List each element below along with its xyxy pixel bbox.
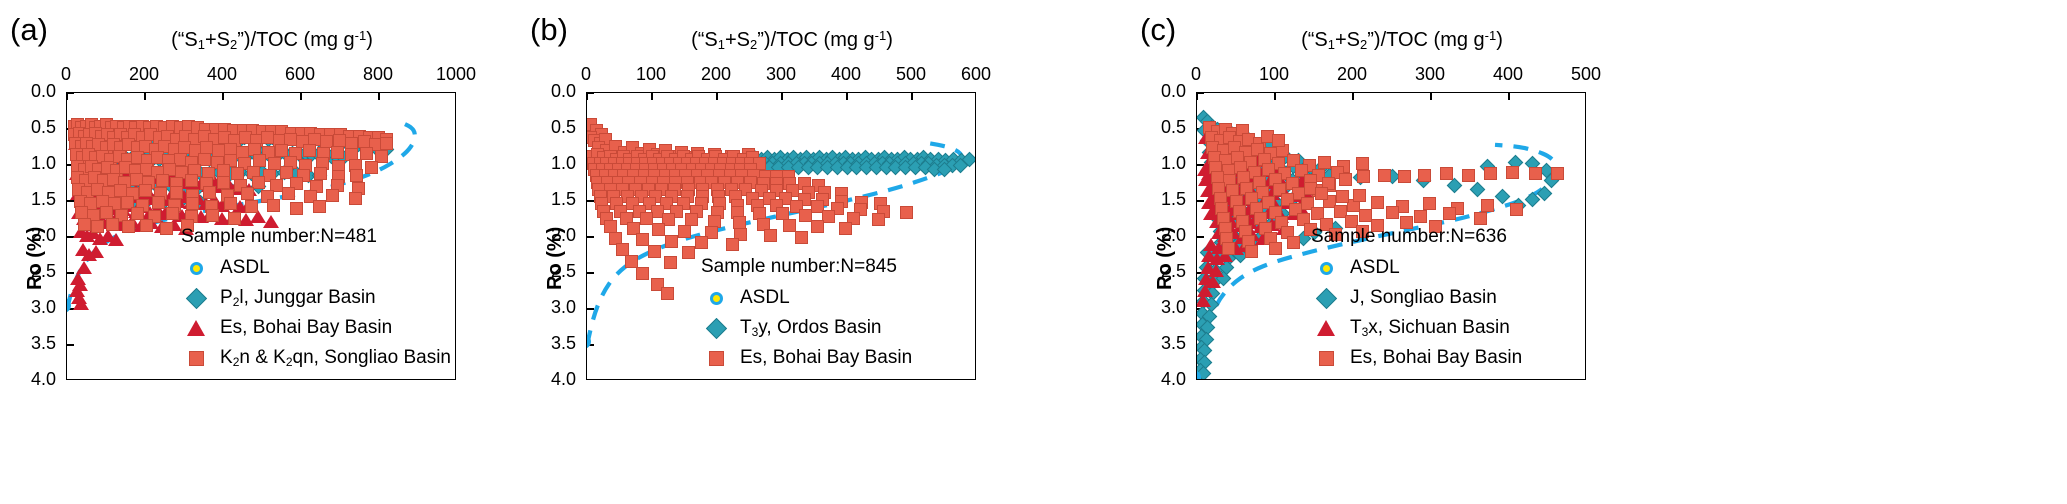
data-point-square: [1398, 170, 1411, 183]
data-point-square: [241, 187, 254, 200]
data-point-square: [661, 287, 674, 300]
data-point-square: [331, 146, 344, 159]
square-marker-icon: [701, 351, 731, 366]
data-point-square: [1245, 245, 1258, 258]
y-axis-tick-label: 4.0: [1134, 369, 1186, 390]
data-point-square: [290, 202, 303, 215]
data-point-square: [314, 167, 327, 180]
data-point-square: [1269, 242, 1282, 255]
panel-c-letter: (c): [1140, 12, 1176, 48]
data-point-square: [139, 184, 152, 197]
y-axis-tick-label: 3.0: [1134, 297, 1186, 318]
panel-b-x-axis-title: (“S1+S2”)/TOC (mg g-1): [582, 28, 1002, 52]
data-point-square: [228, 212, 241, 225]
panel-b-letter: (b): [530, 12, 568, 48]
data-point-square: [170, 186, 183, 199]
panel-c-x-axis-title: (“S1+S2”)/TOC (mg g-1): [1192, 28, 1612, 52]
y-axis-tick-label: 2.5: [4, 261, 56, 282]
legend-item[interactable]: ASDL: [701, 283, 912, 313]
diamond-marker-icon: [701, 321, 731, 336]
y-axis-tick-label: 2.0: [4, 225, 56, 246]
y-axis-tick-label: 0.5: [524, 117, 576, 138]
data-point-square: [224, 197, 237, 210]
data-point-square: [664, 256, 677, 269]
data-point-square: [1474, 212, 1487, 225]
data-point-square: [203, 186, 216, 199]
y-axis-tick-label: 3.0: [524, 297, 576, 318]
data-point-square: [1339, 173, 1352, 186]
x-axis-tick-label: 500: [1551, 64, 1621, 85]
legend-item[interactable]: Es, Bohai Bay Basin: [1311, 343, 1522, 373]
data-point-square: [1506, 166, 1519, 179]
y-axis-tick-label: 3.5: [4, 333, 56, 354]
data-point-square: [839, 222, 852, 235]
legend-item[interactable]: T3y, Ordos Basin: [701, 313, 912, 343]
data-point-square: [1356, 157, 1369, 170]
data-point-square: [764, 229, 777, 242]
data-point-square: [1423, 197, 1436, 210]
x-axis-tick-label: 100: [1239, 64, 1309, 85]
x-axis-tick-label: 600: [941, 64, 1011, 85]
data-point-square: [811, 220, 824, 233]
x-axis-tick-label: 1000: [421, 64, 491, 85]
data-point-square: [365, 161, 378, 174]
legend-item[interactable]: P2l, Junggar Basin: [181, 283, 451, 313]
legend-item-label: Es, Bohai Bay Basin: [1350, 347, 1522, 369]
legend-item-label: ASDL: [1350, 257, 1400, 279]
diamond-marker-icon: [1311, 291, 1341, 306]
legend-sample-count: Sample number:N=845: [701, 256, 912, 278]
data-point-square: [652, 223, 665, 236]
diamond-marker-icon: [181, 291, 211, 306]
data-point-square: [78, 218, 91, 231]
data-point-square: [1551, 167, 1564, 180]
legend-item[interactable]: J, Songliao Basin: [1311, 283, 1522, 313]
data-point-square: [206, 209, 219, 222]
data-point-square: [636, 267, 649, 280]
data-point-square: [122, 220, 135, 233]
x-axis-tick-label: 200: [1317, 64, 1387, 85]
y-axis-tick-label: 3.5: [524, 333, 576, 354]
data-point-square: [1353, 189, 1366, 202]
data-point-square: [1443, 207, 1456, 220]
data-point-square: [1414, 210, 1427, 223]
data-point-square: [140, 219, 153, 232]
legend-item-label: T3x, Sichuan Basin: [1350, 317, 1510, 339]
data-point-square: [1529, 167, 1542, 180]
data-point-square: [822, 210, 835, 223]
data-point-square: [1371, 196, 1384, 209]
data-point-square: [900, 206, 913, 219]
x-axis-tick-label: 300: [746, 64, 816, 85]
data-point-square: [156, 174, 169, 187]
asdl-circle-icon: [1311, 262, 1341, 275]
y-axis-tick-label: 0.5: [1134, 117, 1186, 138]
legend-item[interactable]: Es, Bohai Bay Basin: [701, 343, 912, 373]
data-point-square: [1418, 169, 1431, 182]
y-axis-tick-label: 4.0: [4, 369, 56, 390]
legend-item[interactable]: ASDL: [1311, 253, 1522, 283]
y-axis-tick-label: 2.5: [1134, 261, 1186, 282]
y-axis-tick-label: 1.5: [1134, 189, 1186, 210]
y-axis-tick-label: 0.0: [1134, 81, 1186, 102]
legend-item[interactable]: T3x, Sichuan Basin: [1311, 313, 1522, 343]
legend: Sample number:N=845ASDLT3y, Ordos BasinE…: [701, 256, 912, 373]
y-axis-tick-label: 2.5: [524, 261, 576, 282]
figure-container: (a) (“S1+S2”)/TOC (mg g-1) Ro (%) 020040…: [0, 0, 2067, 504]
data-point-square: [795, 231, 808, 244]
y-axis-tick-label: 2.0: [524, 225, 576, 246]
legend-item[interactable]: K2n & K2qn, Songliao Basin: [181, 343, 451, 373]
data-point-square: [1440, 167, 1453, 180]
data-point-square: [1222, 242, 1235, 255]
data-point-square: [678, 225, 691, 238]
y-axis-tick-label: 3.5: [1134, 333, 1186, 354]
x-axis-tick-label: 200: [681, 64, 751, 85]
data-point-square: [152, 196, 165, 209]
legend-sample-count: Sample number:N=636: [1311, 226, 1522, 248]
y-axis-tick-label: 4.0: [524, 369, 576, 390]
data-point-square: [726, 238, 739, 251]
data-point-square: [1386, 206, 1399, 219]
panel-c: (c) (“S1+S2”)/TOC (mg g-1) Ro (%) 010020…: [1130, 0, 1820, 504]
panel-b: (b) (“S1+S2”)/TOC (mg g-1) Ro (%) 010020…: [520, 0, 1210, 504]
data-point-square: [872, 213, 885, 226]
legend-item[interactable]: ASDL: [181, 253, 451, 283]
data-point-square: [695, 236, 708, 249]
y-axis-tick-label: 1.5: [4, 189, 56, 210]
x-axis-tick-label: 200: [109, 64, 179, 85]
data-point-square: [1357, 170, 1370, 183]
legend-item-label: ASDL: [220, 257, 270, 279]
triangle-marker-icon: [1311, 320, 1341, 336]
legend-item-label: K2n & K2qn, Songliao Basin: [220, 347, 451, 369]
legend: Sample number:N=481ASDLP2l, Junggar Basi…: [181, 226, 451, 373]
data-point-square: [350, 169, 363, 182]
data-point-square: [1484, 167, 1497, 180]
data-point-square: [1287, 236, 1300, 249]
square-marker-icon: [181, 351, 211, 366]
x-axis-tick-label: 400: [1473, 64, 1543, 85]
data-point-square: [1318, 156, 1331, 169]
square-marker-icon: [1311, 351, 1341, 366]
legend-item-label: Es, Bohai Bay Basin: [740, 347, 912, 369]
data-point-square: [186, 197, 199, 210]
data-point-square: [217, 176, 230, 189]
data-point-square: [326, 189, 339, 202]
data-point-square: [1481, 199, 1494, 212]
data-point-square: [1272, 134, 1285, 147]
x-axis-tick-label: 400: [187, 64, 257, 85]
data-point-square: [267, 199, 280, 212]
data-point-square: [303, 144, 316, 157]
y-axis-tick-label: 3.0: [4, 297, 56, 318]
data-point-square: [166, 207, 179, 220]
data-point-square: [380, 137, 393, 150]
legend-item-label: J, Songliao Basin: [1350, 287, 1497, 309]
data-point-square: [349, 192, 362, 205]
x-axis-tick-label: 300: [1395, 64, 1465, 85]
data-point-square: [1510, 203, 1523, 216]
y-axis-tick-label: 1.0: [1134, 153, 1186, 174]
legend-item[interactable]: Es, Bohai Bay Basin: [181, 313, 451, 343]
data-point-square: [1336, 190, 1349, 203]
y-axis-tick-label: 1.5: [524, 189, 576, 210]
data-point-square: [1378, 169, 1391, 182]
data-point-square: [1315, 187, 1328, 200]
y-axis-tick-label: 2.0: [1134, 225, 1186, 246]
y-axis-tick-label: 0.0: [524, 81, 576, 102]
data-point-square: [1359, 209, 1372, 222]
legend-item-label: Es, Bohai Bay Basin: [220, 317, 392, 339]
legend-sample-count: Sample number:N=481: [181, 226, 451, 248]
legend: Sample number:N=636ASDLJ, Songliao Basin…: [1311, 226, 1522, 373]
data-point-square: [682, 246, 695, 259]
data-point-square: [185, 174, 198, 187]
data-point-square: [313, 200, 326, 213]
x-axis-tick-label: 800: [343, 64, 413, 85]
data-point-square: [91, 220, 104, 233]
data-point-square: [1462, 169, 1475, 182]
legend-item-label: T3y, Ordos Basin: [740, 317, 882, 339]
asdl-circle-icon: [701, 292, 731, 305]
panel-a-x-axis-title: (“S1+S2”)/TOC (mg g-1): [62, 28, 482, 52]
y-axis-tick-label: 0.5: [4, 117, 56, 138]
data-point-square: [160, 222, 173, 235]
data-point-square: [665, 235, 678, 248]
x-axis-tick-label: 100: [616, 64, 686, 85]
x-axis-tick-label: 500: [876, 64, 946, 85]
data-point-square: [282, 187, 295, 200]
data-point-square: [106, 218, 119, 231]
y-axis-tick-label: 1.0: [4, 153, 56, 174]
panel-a-letter: (a): [10, 12, 48, 48]
x-axis-tick-label: 600: [265, 64, 335, 85]
data-point-square: [245, 200, 258, 213]
data-point-square: [648, 245, 661, 258]
asdl-circle-icon: [181, 262, 211, 275]
y-axis-tick-label: 1.0: [524, 153, 576, 174]
x-axis-tick-label: 400: [811, 64, 881, 85]
y-axis-tick-label: 0.0: [4, 81, 56, 102]
legend-item-label: ASDL: [740, 287, 790, 309]
legend-item-label: P2l, Junggar Basin: [220, 287, 376, 309]
triangle-marker-icon: [181, 320, 211, 336]
